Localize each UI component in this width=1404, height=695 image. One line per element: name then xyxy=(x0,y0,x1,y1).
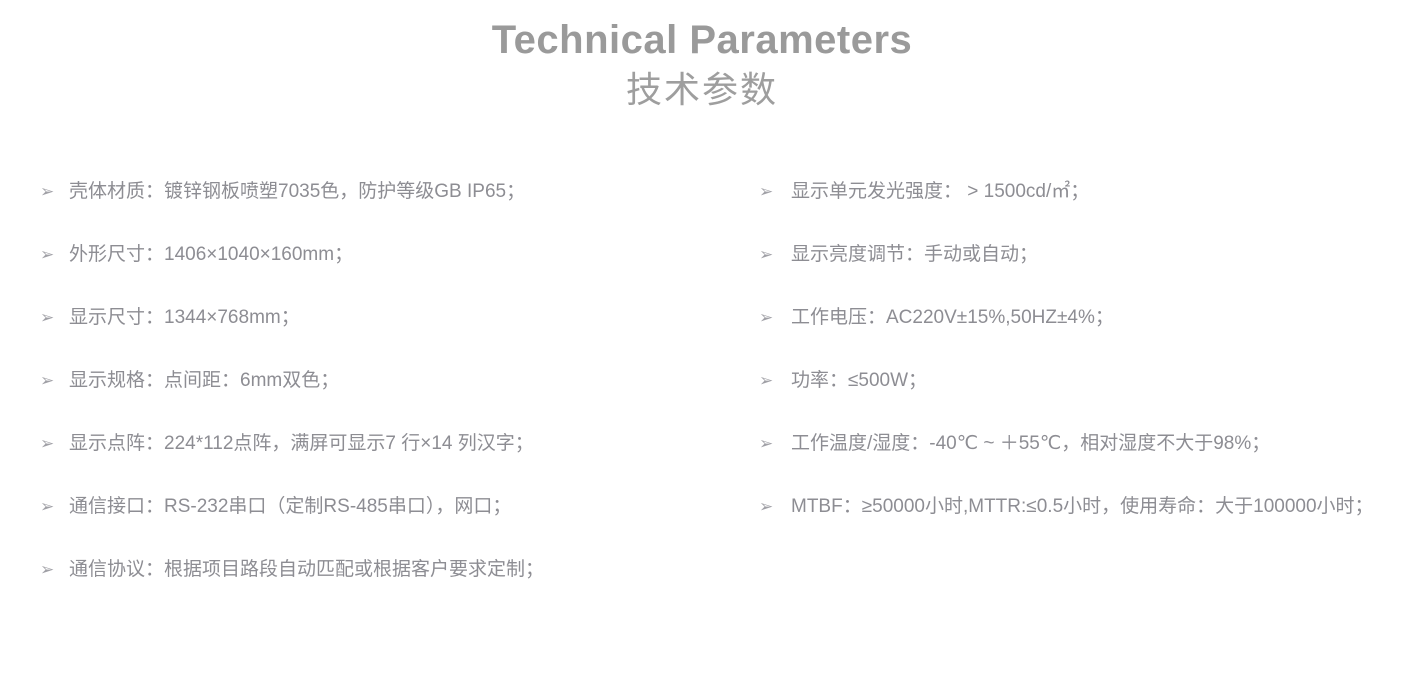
spec-text: 显示单元发光强度： > 1500cd/㎡； xyxy=(791,178,1404,206)
spec-text: 壳体材质：镀锌钢板喷塑7035色，防护等级GB IP65； xyxy=(69,178,755,206)
spec-item-display-specification: ➢ 显示规格：点间距：6mm双色； xyxy=(40,367,755,430)
spec-item-luminous-intensity: ➢ 显示单元发光强度： > 1500cd/㎡； xyxy=(759,178,1404,241)
arrow-bullet-icon: ➢ xyxy=(759,367,791,394)
spec-item-housing-material: ➢ 壳体材质：镀锌钢板喷塑7035色，防护等级GB IP65； xyxy=(40,178,755,241)
page-title-chinese: 技术参数 xyxy=(0,67,1404,114)
spec-columns: ➢ 壳体材质：镀锌钢板喷塑7035色，防护等级GB IP65； ➢ 外形尺寸：1… xyxy=(0,178,1404,619)
spec-text: 显示尺寸：1344×768mm； xyxy=(69,304,755,332)
spec-item-mtbf-mttr-lifetime: ➢ MTBF：≥50000小时,MTTR:≤0.5小时，使用寿命：大于10000… xyxy=(759,493,1404,556)
arrow-bullet-icon: ➢ xyxy=(40,241,69,268)
spec-text: 外形尺寸：1406×1040×160mm； xyxy=(69,241,755,269)
spec-column-left: ➢ 壳体材质：镀锌钢板喷塑7035色，防护等级GB IP65； ➢ 外形尺寸：1… xyxy=(0,178,755,619)
arrow-bullet-icon: ➢ xyxy=(40,304,69,331)
spec-text: 显示亮度调节：手动或自动； xyxy=(791,241,1404,269)
spec-item-dot-matrix: ➢ 显示点阵：224*112点阵，满屏可显示7 行×14 列汉字； xyxy=(40,430,755,493)
arrow-bullet-icon: ➢ xyxy=(40,178,69,205)
technical-parameters-page: Technical Parameters 技术参数 ➢ 壳体材质：镀锌钢板喷塑7… xyxy=(0,0,1404,695)
spec-text: 工作温度/湿度：-40℃ ~ ＋55℃，相对湿度不大于98%； xyxy=(791,430,1404,458)
spec-item-brightness-adjustment: ➢ 显示亮度调节：手动或自动； xyxy=(759,241,1404,304)
arrow-bullet-icon: ➢ xyxy=(40,367,69,394)
arrow-bullet-icon: ➢ xyxy=(759,178,791,205)
arrow-bullet-icon: ➢ xyxy=(40,430,69,457)
spec-text: 通信接口：RS-232串口（定制RS-485串口），网口； xyxy=(69,493,755,521)
spec-text: 工作电压：AC220V±15%,50HZ±4%； xyxy=(791,304,1404,332)
spec-item-working-voltage: ➢ 工作电压：AC220V±15%,50HZ±4%； xyxy=(759,304,1404,367)
spec-text: 显示点阵：224*112点阵，满屏可显示7 行×14 列汉字； xyxy=(69,430,755,458)
spec-item-communication-protocol: ➢ 通信协议：根据项目路段自动匹配或根据客户要求定制； xyxy=(40,556,755,619)
page-header: Technical Parameters 技术参数 xyxy=(0,0,1404,114)
arrow-bullet-icon: ➢ xyxy=(40,556,69,583)
spec-item-display-size: ➢ 显示尺寸：1344×768mm； xyxy=(40,304,755,367)
spec-item-communication-interface: ➢ 通信接口：RS-232串口（定制RS-485串口），网口； xyxy=(40,493,755,556)
arrow-bullet-icon: ➢ xyxy=(759,304,791,331)
spec-item-temperature-humidity: ➢ 工作温度/湿度：-40℃ ~ ＋55℃，相对湿度不大于98%； xyxy=(759,430,1404,493)
arrow-bullet-icon: ➢ xyxy=(759,493,791,520)
arrow-bullet-icon: ➢ xyxy=(759,430,791,457)
spec-column-right: ➢ 显示单元发光强度： > 1500cd/㎡； ➢ 显示亮度调节：手动或自动； … xyxy=(755,178,1404,619)
page-title-english: Technical Parameters xyxy=(0,16,1404,65)
spec-item-outline-dimensions: ➢ 外形尺寸：1406×1040×160mm； xyxy=(40,241,755,304)
arrow-bullet-icon: ➢ xyxy=(759,241,791,268)
spec-text: 显示规格：点间距：6mm双色； xyxy=(69,367,755,395)
spec-text: 功率：≤500W； xyxy=(791,367,1404,395)
spec-item-power: ➢ 功率：≤500W； xyxy=(759,367,1404,430)
arrow-bullet-icon: ➢ xyxy=(40,493,69,520)
spec-text: MTBF：≥50000小时,MTTR:≤0.5小时，使用寿命：大于100000小… xyxy=(791,493,1404,521)
spec-text: 通信协议：根据项目路段自动匹配或根据客户要求定制； xyxy=(69,556,755,584)
